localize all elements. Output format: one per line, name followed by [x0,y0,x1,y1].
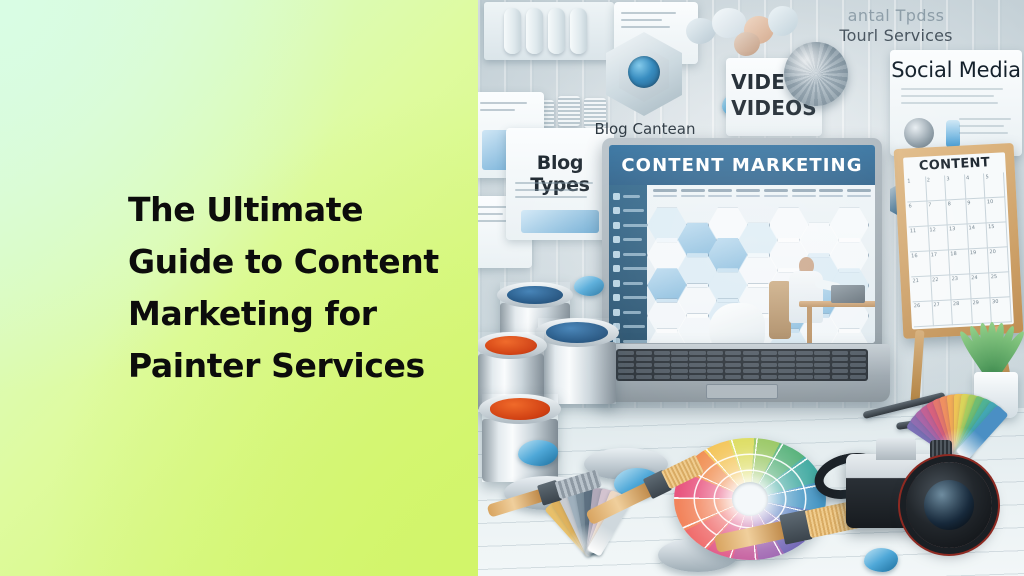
decor-blob [734,32,760,56]
keyboard-key[interactable] [654,351,670,355]
headline-line-1: The Ultimate [128,184,439,236]
garbled-line-2: Tourl Services [814,26,978,45]
menu-item-icon [613,280,620,287]
keyboard-key[interactable] [618,369,634,373]
sidebar-menu-item-5[interactable] [613,248,643,260]
menu-item-icon [613,207,620,214]
column-headers [653,189,871,197]
headline-line-4: Painter Services [128,340,439,392]
menu-item-label [623,282,643,285]
app-workspace[interactable] [647,185,875,343]
keyboard-key[interactable] [850,375,866,379]
keyboard-key[interactable] [618,375,634,379]
calendar-day-cell: 2 [926,175,947,201]
calendar-day-cell: 25 [990,272,1011,298]
calendar-day-cell: 3 [945,174,966,200]
menu-item-label [623,253,646,256]
keyboard-key[interactable] [814,375,830,379]
screen-title: CONTENT MARKETING [621,155,862,176]
keyboard-key[interactable] [778,369,794,373]
menu-item-label [623,311,641,314]
calendar-day-cell: 21 [911,276,932,302]
keyboard-key[interactable] [671,369,687,373]
page-title: The Ultimate Guide to Content Marketing … [0,184,455,393]
keyboard-key[interactable] [850,363,866,367]
keyboard-key[interactable] [689,363,705,367]
column-header [847,189,871,197]
keyboard-key[interactable] [618,357,634,361]
wall-shelf [484,2,614,60]
menu-item-icon [613,309,620,316]
menu-item-icon [613,236,620,243]
sidebar-menu-item-7[interactable] [613,277,643,289]
keyboard-key[interactable] [618,363,634,367]
menu-item-label [623,195,640,198]
trackpad[interactable] [706,384,778,399]
keyboard-key[interactable] [761,357,777,361]
calendar-day-cell: 18 [949,249,970,275]
keyboard-key[interactable] [636,375,652,379]
menu-item-label [623,267,650,270]
keyboard-key[interactable] [636,351,652,355]
wall-garbled-heading: antal Tpdss Tourl Services [814,6,978,45]
paint-tube [570,8,587,54]
keyboard-key[interactable] [778,357,794,361]
calendar-day-cell: 10 [986,197,1007,223]
keyboard-key[interactable] [636,357,652,361]
column-header [792,189,816,197]
calendar-day-cell: 26 [913,301,934,327]
garbled-line-1: antal Tpdss [814,6,978,25]
sidebar-menu-item-1[interactable] [613,190,643,202]
keyboard-key[interactable] [814,369,830,373]
camera-prism [876,438,916,460]
calendar-day-cell: 17 [930,250,951,276]
keyboard-key[interactable] [778,375,794,379]
keyboard-key[interactable] [778,363,794,367]
calendar-day-cell: 13 [948,224,969,250]
keyboard-key[interactable] [725,351,741,355]
keyboard-key[interactable] [850,369,866,373]
menu-item-icon [613,251,620,258]
sidebar-menu-item-8[interactable] [613,292,643,304]
paint-squeeze-blob [518,440,558,466]
camera-lens [906,462,992,548]
keyboard[interactable] [616,349,868,381]
keyboard-key[interactable] [796,375,812,379]
calendar-day-cell: 19 [969,248,990,274]
keyboard-key[interactable] [636,369,652,373]
blog-cantean-label: Blog Cantean [590,120,700,138]
keyboard-key[interactable] [618,351,634,355]
calendar-day-cell: 5 [984,172,1005,198]
keyboard-key[interactable] [671,375,687,379]
keyboard-key[interactable] [832,363,848,367]
sidebar-menu-item-2[interactable] [613,205,643,217]
keyboard-key[interactable] [725,357,741,361]
calendar-day-cell: 20 [988,247,1009,273]
keyboard-key[interactable] [832,369,848,373]
calendar-day-cell: 7 [927,200,948,226]
menu-item-icon [613,193,620,200]
menu-item-icon [613,222,620,229]
globe-sphere-decor [784,42,848,106]
laptop-lid: CONTENT MARKETING [602,138,882,350]
paint-tube [548,8,565,54]
paint-tube [526,8,543,54]
calendar-day-cell: 24 [970,273,991,299]
keyboard-key[interactable] [689,369,705,373]
calendar-day-cell: 15 [987,222,1008,248]
calendar-day-cell: 6 [907,201,928,227]
keyboard-key[interactable] [796,369,812,373]
keyboard-key[interactable] [725,369,741,373]
foreground-drape-graphic [709,303,765,343]
sidebar-menu-item-3[interactable] [613,219,643,231]
keyboard-key[interactable] [761,351,777,355]
keyboard-key[interactable] [707,369,723,373]
calendar-grid: 1234567891011121314151617181920212223242… [906,172,1012,327]
keyboard-key[interactable] [743,363,759,367]
keyboard-key[interactable] [654,357,670,361]
keyboard-key[interactable] [778,351,794,355]
blog-banner: The Ultimate Guide to Content Marketing … [0,0,1024,576]
keyboard-key[interactable] [689,357,705,361]
camera-dial [930,440,952,460]
keyboard-key[interactable] [689,351,705,355]
keyboard-key[interactable] [725,375,741,379]
social-media-card: Social Media [890,50,1022,156]
calendar-day-cell: 14 [967,223,988,249]
calendar-day-cell: 12 [928,225,949,251]
calendar-day-cell: 27 [932,300,953,326]
keyboard-key[interactable] [671,357,687,361]
column-header [653,189,677,197]
keyboard-key[interactable] [832,357,848,361]
column-header [764,189,788,197]
lens-eye-icon [628,56,660,88]
dslr-camera [846,436,996,560]
keyboard-key[interactable] [707,363,723,367]
keyboard-key[interactable] [707,351,723,355]
menu-item-icon [613,294,620,301]
keyboard-key[interactable] [761,363,777,367]
menu-item-label [623,209,644,212]
menu-item-label [623,238,642,241]
keyboard-key[interactable] [796,357,812,361]
keyboard-key[interactable] [832,351,848,355]
keyboard-key[interactable] [850,351,866,355]
paint-can-blue [538,318,616,404]
calendar-day-cell: 4 [965,173,986,199]
headline-line-3: Marketing for [128,288,439,340]
camera-lens-glass [924,480,974,530]
calendar-day-cell: 23 [950,274,971,300]
keyboard-key[interactable] [707,357,723,361]
keyboard-key[interactable] [761,375,777,379]
sidebar-menu-item-9[interactable] [613,306,643,318]
chair-graphic [769,281,791,339]
keyboard-key[interactable] [743,357,759,361]
keyboard-key[interactable] [814,363,830,367]
paint-squeeze-blob [574,276,604,296]
paint-can-lid-stack [558,96,580,126]
blog-cantean-badge: Blog Cantean [606,32,682,116]
calendar-day-cell: 8 [947,199,968,225]
keyboard-key[interactable] [743,375,759,379]
screen-header: CONTENT MARKETING [609,145,875,185]
keyboard-key[interactable] [832,375,848,379]
menu-item-label [623,340,649,343]
calendar-day-cell: 22 [931,275,952,301]
sidebar-menu-item-4[interactable] [613,234,643,246]
menu-item-icon [613,265,620,272]
headline-panel: The Ultimate Guide to Content Marketing … [0,0,478,576]
easel-frame: CONTENT 12345678910111213141516171819202… [894,143,1024,339]
calendar-day-cell: 11 [909,226,930,252]
column-header [708,189,732,197]
keyboard-key[interactable] [743,351,759,355]
keyboard-key[interactable] [814,357,830,361]
keyboard-key[interactable] [814,351,830,355]
keyboard-key[interactable] [850,357,866,361]
calendar-day-cell: 16 [910,251,931,277]
keyboard-key[interactable] [654,369,670,373]
calendar-day-cell: 9 [966,198,987,224]
calendar-board: CONTENT 12345678910111213141516171819202… [903,152,1014,329]
keyboard-key[interactable] [796,351,812,355]
calendar-title: CONTENT [903,154,1006,174]
paint-tube [504,8,521,54]
keyboard-key[interactable] [654,363,670,367]
laptop: CONTENT MARKETING [594,138,890,414]
column-header [736,189,760,197]
calendar-day-cell: 1 [906,177,927,203]
laptop-graphic [831,285,865,303]
menu-item-label [623,296,647,299]
sidebar-menu-item-6[interactable] [613,263,643,275]
menu-item-label [623,325,645,328]
column-header [681,189,705,197]
keyboard-key[interactable] [636,363,652,367]
keyboard-key[interactable] [725,363,741,367]
menu-item-label [623,224,648,227]
social-media-label: Social Media [890,58,1022,82]
keyboard-key[interactable] [671,351,687,355]
paint-can-orange [482,394,558,482]
decor-blob [768,6,798,36]
keyboard-key[interactable] [671,363,687,367]
laptop-screen[interactable]: CONTENT MARKETING [609,145,875,343]
laptop-base [594,344,890,402]
keyboard-key[interactable] [796,363,812,367]
hero-photo: Blog Types Blog Cantean VIDEOS VIDEOS [478,0,1024,576]
keyboard-key[interactable] [654,375,670,379]
keyboard-key[interactable] [743,369,759,373]
column-header [819,189,843,197]
keyboard-key[interactable] [707,375,723,379]
keyboard-key[interactable] [761,369,777,373]
desk-leg-graphic [807,307,812,343]
headline-line-2: Guide to Content [128,236,439,288]
keyboard-key[interactable] [689,375,705,379]
